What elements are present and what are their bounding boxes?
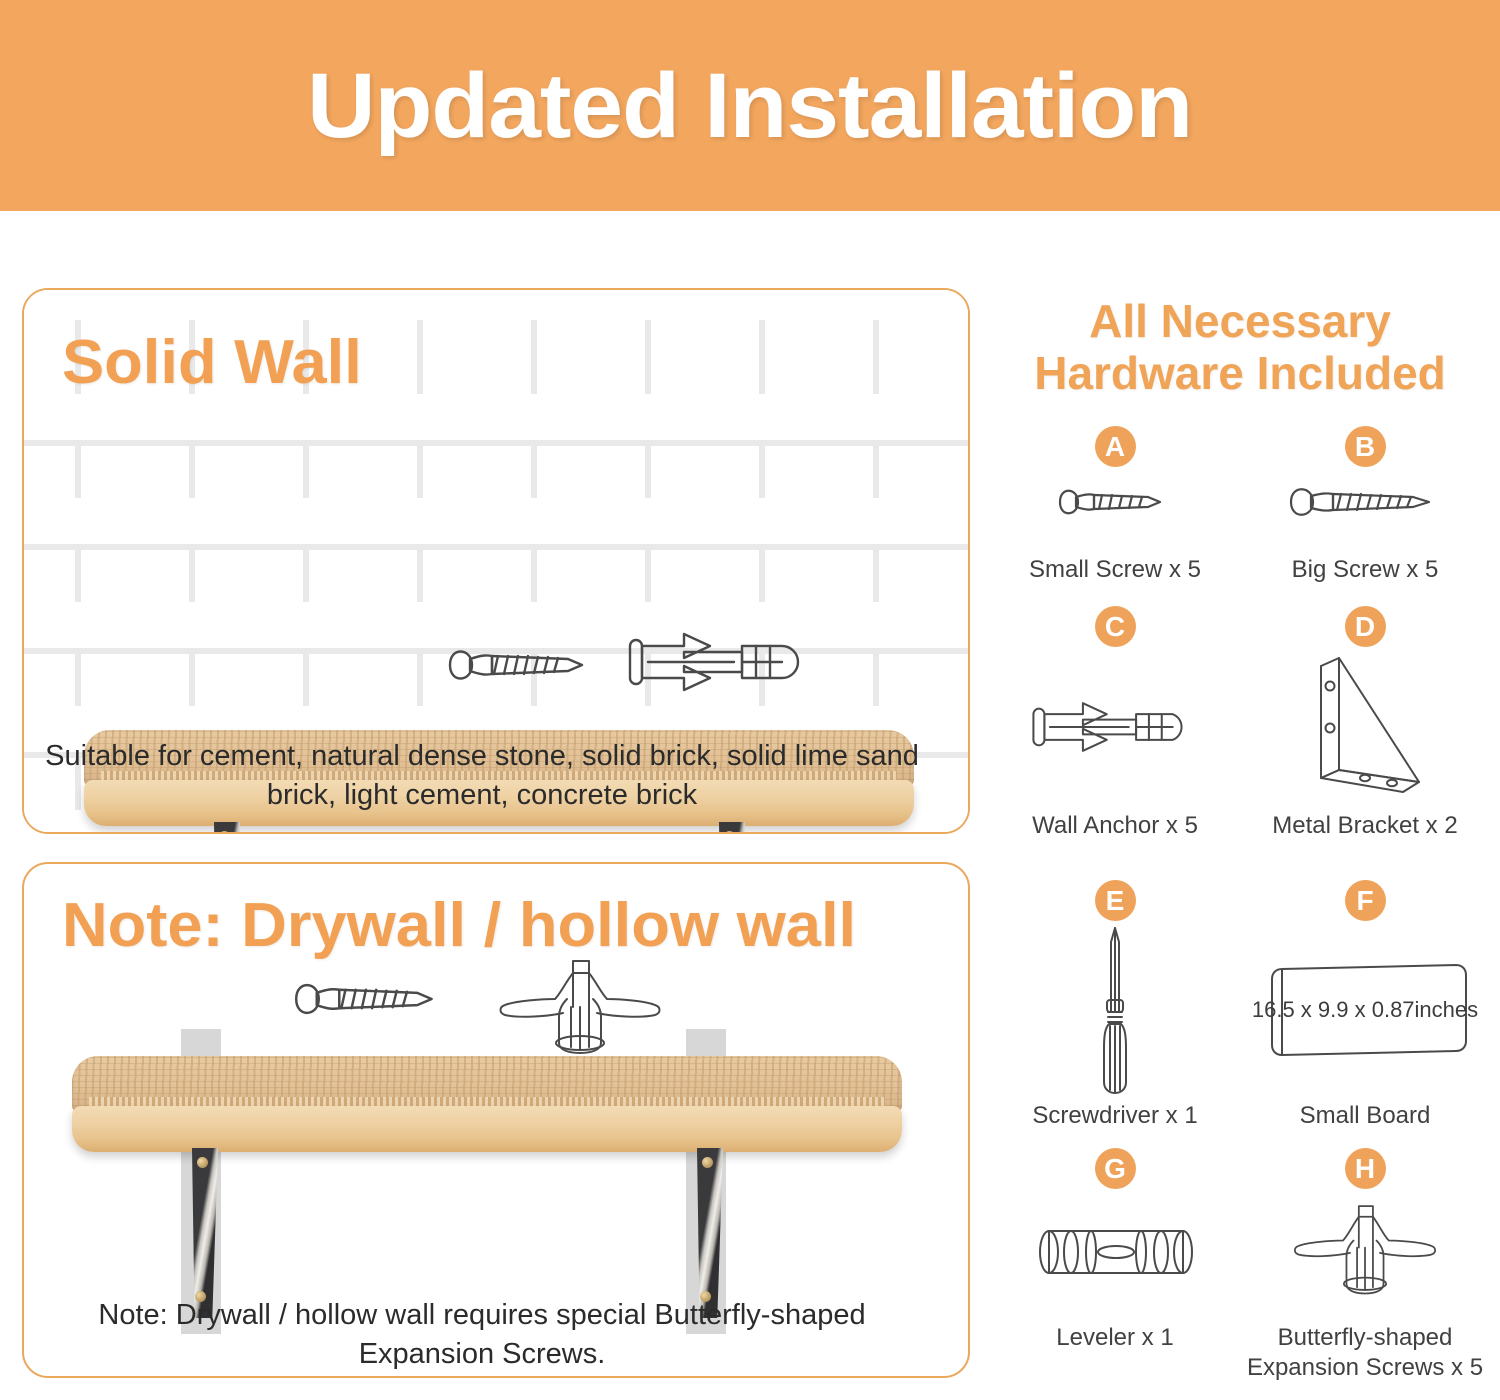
hardware-badge-h: H	[1345, 1148, 1386, 1189]
header-banner: Updated Installation	[0, 0, 1500, 211]
hardware-label-h-line1: Butterfly-shaped	[1247, 1323, 1483, 1353]
board-dimension-label: 16.5 x 9.9 x 0.87inches	[1260, 961, 1470, 1059]
screw-icon	[288, 968, 448, 1030]
hardware-badge-b: B	[1345, 426, 1386, 467]
hardware-title-line2: Hardware Included	[990, 348, 1490, 400]
hardware-title: All Necessary Hardware Included	[990, 296, 1490, 399]
screw-icon	[442, 635, 598, 695]
hardware-badge-a: A	[1095, 426, 1136, 467]
leveler-icon	[1037, 1189, 1193, 1315]
rattan-top	[72, 1056, 902, 1112]
metal-bracket-right	[719, 822, 745, 834]
hardware-label-c: Wall Anchor x 5	[1032, 811, 1198, 841]
drywall-heading: Note: Drywall / hollow wall	[62, 895, 856, 957]
hardware-item-d: D Metal Bracket x 2	[1240, 606, 1490, 841]
metal-bracket-left	[214, 822, 240, 834]
hardware-badge-c: C	[1095, 606, 1136, 647]
drywall-caption: Note: Drywall / hollow wall requires spe…	[42, 1296, 922, 1374]
butterfly-toggle-anchor-icon	[1290, 1189, 1440, 1315]
hardware-label-f: Small Board	[1300, 1101, 1431, 1131]
wall-anchor-icon	[1025, 647, 1205, 807]
hardware-label-e: Screwdriver x 1	[1032, 1101, 1197, 1131]
hardware-label-h: Butterfly-shaped Expansion Screws x 5	[1247, 1323, 1483, 1383]
hardware-item-e: E Screwdriver x 1	[990, 880, 1240, 1131]
wall-anchor-icon	[624, 626, 814, 698]
butterfly-toggle-anchor-icon	[495, 955, 665, 1060]
hardware-item-g: G Leveler x 1	[990, 1148, 1240, 1383]
wood-board	[72, 1106, 902, 1152]
hardware-column: All Necessary Hardware Included A Small …	[990, 296, 1490, 1386]
hardware-badge-e: E	[1095, 880, 1136, 921]
solid-wall-caption: Suitable for cement, natural dense stone…	[42, 737, 922, 815]
hardware-item-b: B Big Screw x 5	[1240, 426, 1490, 585]
hardware-label-g: Leveler x 1	[1056, 1323, 1173, 1353]
hardware-badge-f: F	[1345, 880, 1386, 921]
hardware-label-b: Big Screw x 5	[1292, 555, 1439, 585]
small-screw-icon	[1054, 467, 1176, 537]
hardware-item-a: A Small Screw x 5	[990, 426, 1240, 585]
hardware-label-d: Metal Bracket x 2	[1272, 811, 1457, 841]
page-title: Updated Installation	[308, 60, 1193, 152]
metal-bracket-right	[697, 1148, 723, 1318]
metal-bracket-left	[192, 1148, 218, 1318]
hardware-item-h: H Butterfly-shaped Expansion Scr	[1240, 1148, 1490, 1383]
hardware-badge-d: D	[1345, 606, 1386, 647]
hardware-item-f: F 16.5 x 9.9 x 0.87inches Small Board	[1240, 880, 1490, 1131]
hardware-item-c: C Wall Anchor x 5	[990, 606, 1240, 841]
metal-bracket-icon	[1295, 647, 1435, 807]
hardware-label-a: Small Screw x 5	[1029, 555, 1201, 585]
solid-wall-heading: Solid Wall	[62, 332, 362, 394]
big-screw-icon	[1285, 467, 1445, 537]
hardware-title-line1: All Necessary	[990, 296, 1490, 348]
hardware-badge-g: G	[1095, 1148, 1136, 1189]
board-icon: 16.5 x 9.9 x 0.87inches	[1260, 921, 1470, 1099]
hardware-label-h-line2: Expansion Screws x 5	[1247, 1353, 1483, 1383]
shelf-product-image	[72, 1056, 902, 1326]
screwdriver-icon	[1085, 921, 1145, 1099]
